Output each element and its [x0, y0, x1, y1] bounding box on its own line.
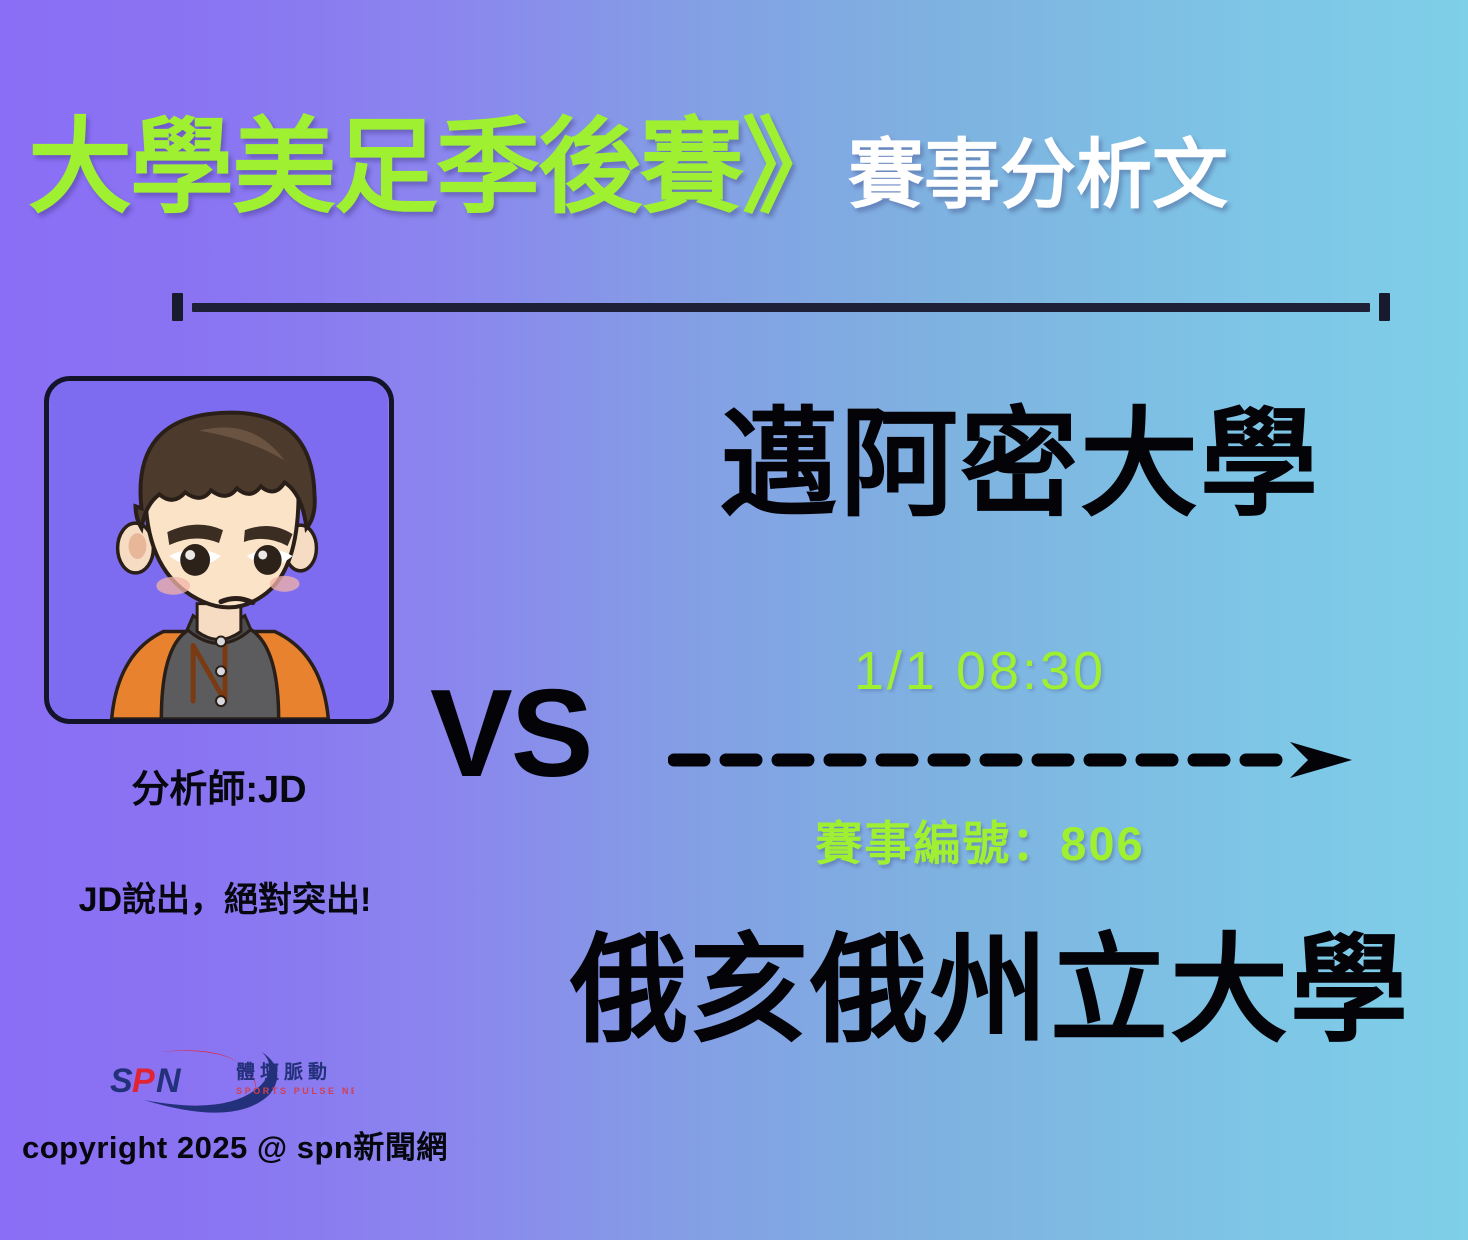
vs-label: VS	[430, 672, 591, 796]
match-datetime: 1/1 08:30	[760, 640, 1200, 702]
title-chevron-icon: 》	[742, 116, 840, 220]
title-main-text: 大學美足季後賽	[28, 116, 742, 220]
title-subtitle-text: 賽事分析文	[848, 138, 1228, 214]
team-name-bottom: 俄亥俄州立大學	[530, 930, 1450, 1054]
analyst-slogan: JD說出，絕對突出!	[20, 872, 430, 921]
divider-cap-right	[1379, 293, 1390, 321]
svg-text:N: N	[156, 1062, 182, 1100]
spn-logo: S N P 體壇脈動 SPORTS PULSE NEWS	[104, 1044, 354, 1120]
match-id: 賽事編號：806	[760, 805, 1200, 874]
svg-text:P: P	[132, 1062, 155, 1100]
svg-text:S: S	[110, 1062, 133, 1100]
divider-cap-left	[172, 293, 183, 321]
spn-logo-en: SPORTS PULSE NEWS	[236, 1086, 354, 1096]
copyright-text: copyright 2025 @ spn新聞網	[22, 1122, 448, 1167]
poster-canvas: 大學美足季後賽 》 賽事分析文	[0, 0, 1468, 1240]
avatar-illustration	[49, 381, 389, 719]
team-name-top: 邁阿密大學	[620, 404, 1420, 528]
avatar	[44, 376, 394, 724]
divider-bar	[192, 303, 1370, 312]
spn-logo-cn: 體壇脈動	[236, 1060, 332, 1083]
analyst-name: 分析師:JD	[44, 758, 394, 813]
arrow-icon	[668, 740, 1368, 780]
page-title: 大學美足季後賽 》 賽事分析文	[28, 116, 1228, 220]
divider	[172, 292, 1390, 322]
